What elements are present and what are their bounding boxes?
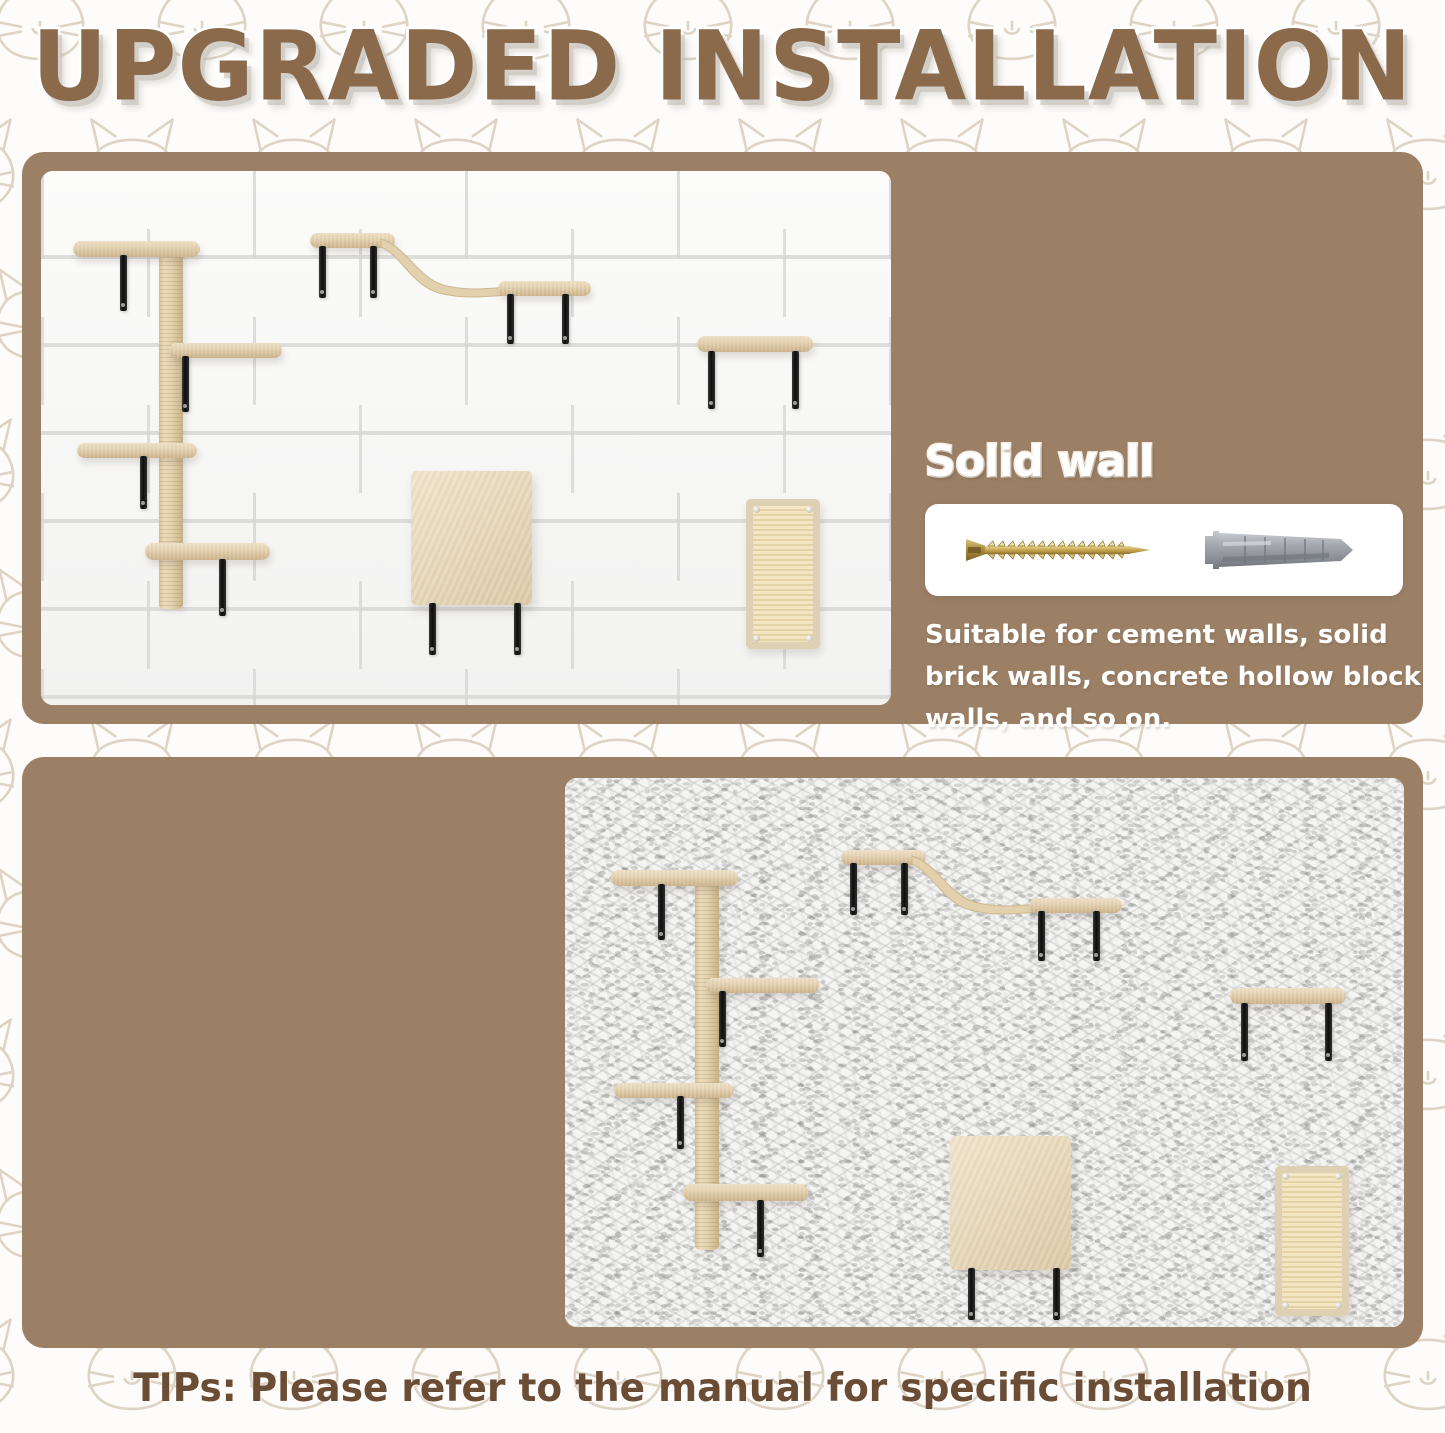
bracket-shelf-top xyxy=(120,255,127,311)
bracket-condo-left-dry xyxy=(968,1268,975,1320)
cat-condo xyxy=(411,471,532,605)
wall-plug-anchor-icon xyxy=(1201,527,1365,573)
bracket-condo-left xyxy=(429,603,436,655)
solid-wall-panel: Solid wall xyxy=(22,152,1423,724)
pad-screw-br xyxy=(806,635,813,642)
bridge-ramp xyxy=(381,233,511,299)
bracket-ramp-lower-right xyxy=(562,294,569,344)
bracket-ramp-upper-left xyxy=(319,246,326,298)
pad-screw-bl-dry xyxy=(1282,1302,1289,1309)
drywall-photo xyxy=(565,778,1404,1327)
bracket-ramp-lower-right-dry xyxy=(1093,911,1100,961)
shelf-top-dry xyxy=(611,870,738,886)
shelf-bottom-dry xyxy=(683,1184,808,1201)
pad-screw-tr-dry xyxy=(1335,1173,1342,1180)
sisal-surface-dry xyxy=(1282,1173,1342,1309)
shelf-third xyxy=(77,443,197,458)
pad-screw-bl xyxy=(753,635,760,642)
cat-face-watermark-icon xyxy=(1438,560,1445,672)
solid-wall-body-text: Suitable for cement walls, solid brick w… xyxy=(925,614,1425,740)
shelf-far-right-dry xyxy=(1230,988,1346,1004)
cat-face-watermark-icon xyxy=(1438,260,1445,372)
page-title-container: UPGRADED INSTALLATION xyxy=(0,8,1445,126)
pad-screw-tl-dry xyxy=(1282,1173,1289,1180)
bracket-shelf-third-dry xyxy=(677,1096,684,1149)
page-title: UPGRADED INSTALLATION xyxy=(32,11,1413,123)
scratching-pad xyxy=(746,499,820,649)
sisal-surface xyxy=(753,506,813,642)
drywall-panel: Drywall xyxy=(22,757,1423,1348)
bracket-shelf-bottom-dry xyxy=(757,1200,764,1257)
footer-tip-text: TIPs: Please refer to the manual for spe… xyxy=(29,1366,1416,1411)
solid-wall-photo xyxy=(41,171,891,705)
solid-wall-hardware-card xyxy=(925,504,1403,596)
shelf-bottom xyxy=(145,543,270,560)
bracket-ramp-lower-left-dry xyxy=(1038,911,1045,961)
shelf-third-dry xyxy=(614,1083,734,1098)
wood-screw-icon xyxy=(964,533,1160,567)
pad-screw-br-dry xyxy=(1335,1302,1342,1309)
cat-face-watermark-icon xyxy=(1438,1160,1445,1272)
cat-condo-dry xyxy=(950,1136,1071,1270)
shelf-top xyxy=(73,241,200,257)
solid-wall-heading: Solid wall xyxy=(925,437,1425,487)
bracket-ramp-lower-left xyxy=(507,294,514,344)
bracket-condo-right-dry xyxy=(1053,1268,1060,1320)
bridge-ramp-dry xyxy=(912,850,1042,916)
bracket-shelf-second-dry xyxy=(719,991,726,1047)
bracket-condo-right xyxy=(514,603,521,655)
bracket-ramp-upper-right xyxy=(370,246,377,298)
scratching-pad-dry xyxy=(1275,1166,1349,1316)
bracket-shelf-bottom xyxy=(219,559,226,616)
solid-wall-info: Solid wall xyxy=(925,437,1425,740)
cat-face-watermark-icon xyxy=(1438,860,1445,972)
pad-screw-tl xyxy=(753,506,760,513)
bracket-far-right-right xyxy=(792,351,799,409)
bracket-shelf-third xyxy=(140,456,147,509)
pad-screw-tr xyxy=(806,506,813,513)
bracket-shelf-top-dry xyxy=(658,884,665,940)
bracket-shelf-second xyxy=(182,356,189,412)
bracket-far-right-left-dry xyxy=(1241,1003,1248,1061)
bracket-far-right-left xyxy=(708,351,715,409)
bracket-ramp-upper-left-dry xyxy=(850,863,857,915)
bracket-far-right-right-dry xyxy=(1325,1003,1332,1061)
bracket-ramp-upper-right-dry xyxy=(901,863,908,915)
shelf-far-right xyxy=(697,336,813,352)
